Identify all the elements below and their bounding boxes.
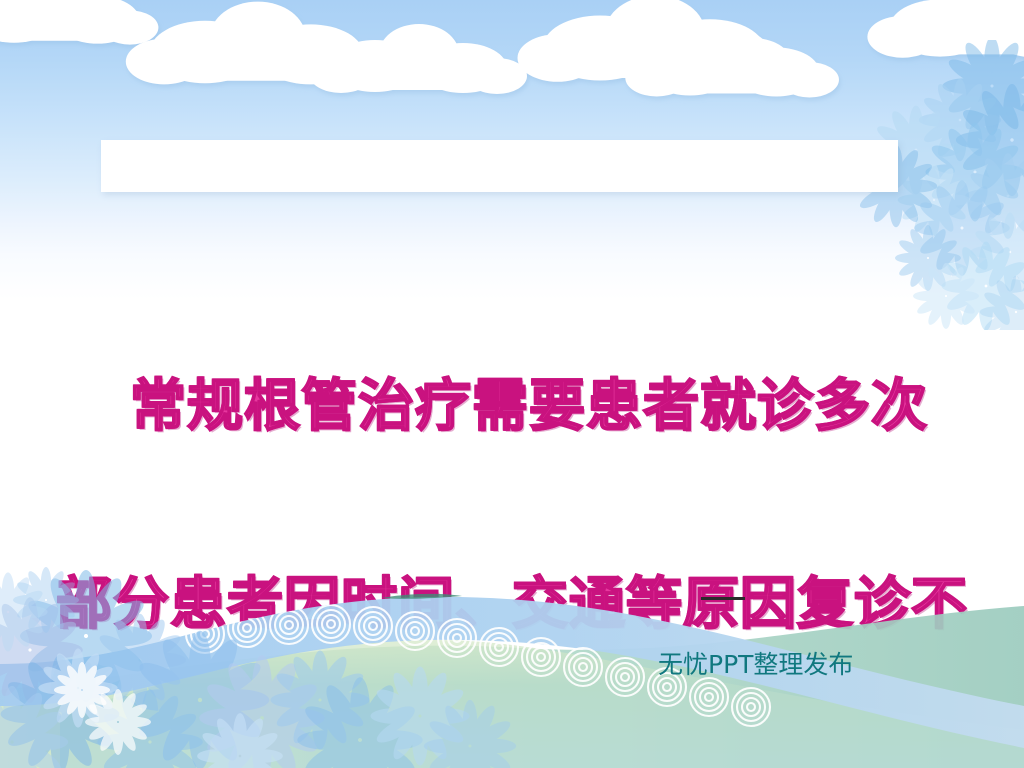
watermark-text: 无忧PPT整理发布 [658,645,853,681]
short-rule [701,597,745,600]
slide-canvas: 常规根管治疗需要患者就诊多次 部分患者因时间、交通等原因复诊不 便 [0,0,1024,768]
flower-decoration-bottom-left [0,0,1024,768]
